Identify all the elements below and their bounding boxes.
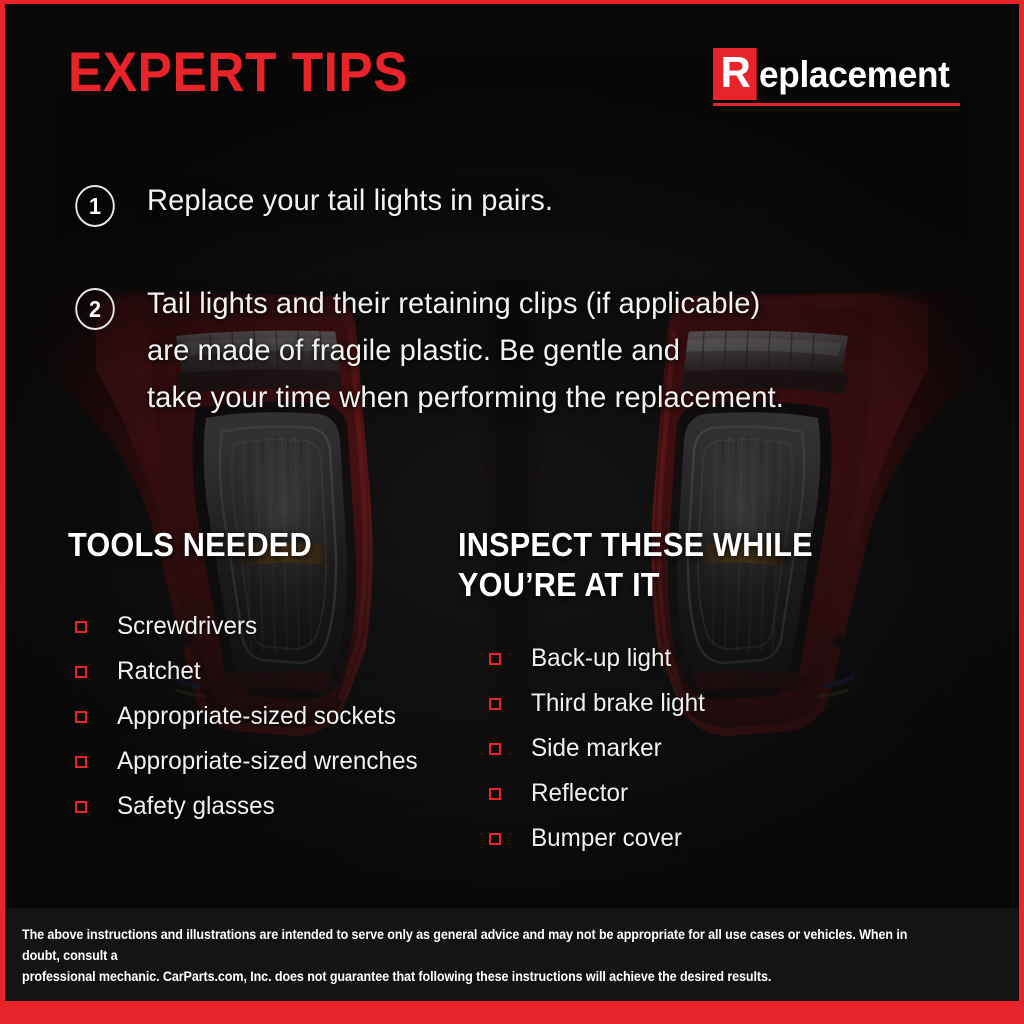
list-item-label: Third brake light	[531, 691, 705, 716]
expert-tips-infographic: EXPERT TIPS R eplacement 1 Replace your …	[0, 0, 1024, 1024]
tip-text-1: Replace your tail lights in pairs.	[147, 177, 553, 224]
list-item-label: Safety glasses	[117, 794, 275, 819]
disclaimer-footer: The above instructions and illustrations…	[0, 908, 1024, 1001]
section-heading-tools: TOOLS NEEDED	[68, 525, 431, 565]
list-item: Third brake light	[489, 681, 858, 726]
list-item: Screwdrivers	[75, 604, 458, 649]
list-item: Ratchet	[75, 649, 458, 694]
list-item-label: Ratchet	[117, 659, 201, 684]
list-item-label: Bumper cover	[531, 826, 682, 851]
checkbox-square-icon	[489, 698, 501, 710]
brand-logo: R eplacement	[713, 48, 960, 106]
checkbox-square-icon	[75, 756, 87, 768]
tools-list: Screwdrivers Ratchet Appropriate-sized s…	[75, 604, 458, 829]
heading-line: TOOLS NEEDED	[68, 526, 312, 563]
checkbox-square-icon	[489, 833, 501, 845]
tip-item-2: 2 Tail lights and their retaining clips …	[74, 288, 804, 421]
list-item: Back-up light	[489, 636, 858, 681]
checkbox-square-icon	[75, 711, 87, 723]
tip-line: are made of fragile plastic. Be gentle a…	[147, 327, 784, 374]
tip-line: take your time when performing the repla…	[147, 374, 784, 421]
tip-number-badge-1: 1	[75, 185, 114, 227]
tip-line: Replace your tail lights in pairs.	[147, 177, 553, 224]
list-item: Appropriate-sized wrenches	[75, 739, 458, 784]
list-item: Bumper cover	[489, 816, 858, 861]
checkbox-square-icon	[489, 788, 501, 800]
tip-number-badge-2: 2	[75, 288, 114, 330]
list-item: Safety glasses	[75, 784, 458, 829]
list-item-label: Side marker	[531, 736, 662, 761]
border-left	[0, 0, 5, 1024]
checkbox-square-icon	[75, 621, 87, 633]
tip-text-2: Tail lights and their retaining clips (i…	[147, 280, 784, 421]
disclaimer-line-2: professional mechanic. CarParts.com, Inc…	[22, 966, 933, 987]
checkbox-square-icon	[489, 743, 501, 755]
list-item-label: Reflector	[531, 781, 628, 806]
border-right	[1019, 0, 1024, 1024]
list-item: Appropriate-sized sockets	[75, 694, 458, 739]
tip-item-1: 1 Replace your tail lights in pairs.	[74, 185, 566, 227]
list-item-label: Back-up light	[531, 646, 671, 671]
tip-line: Tail lights and their retaining clips (i…	[147, 280, 784, 327]
heading-line: YOU’RE AT IT	[458, 566, 660, 603]
list-item: Reflector	[489, 771, 858, 816]
disclaimer-line-1: The above instructions and illustrations…	[22, 924, 933, 966]
section-inspect-these: INSPECT THESE WHILE YOU’RE AT IT Back-up…	[458, 525, 858, 861]
inspect-list: Back-up light Third brake light Side mar…	[489, 636, 858, 861]
list-item-label: Appropriate-sized wrenches	[117, 749, 418, 774]
list-item-label: Screwdrivers	[117, 614, 257, 639]
checkbox-square-icon	[489, 653, 501, 665]
checkbox-square-icon	[75, 666, 87, 678]
heading-line: INSPECT THESE WHILE	[458, 526, 813, 563]
logo-underline	[713, 103, 960, 106]
list-item-label: Appropriate-sized sockets	[117, 704, 396, 729]
section-heading-inspect: INSPECT THESE WHILE YOU’RE AT IT	[458, 525, 830, 605]
border-top	[0, 0, 1024, 4]
list-item: Side marker	[489, 726, 858, 771]
section-tools-needed: TOOLS NEEDED Screwdrivers Ratchet Approp…	[68, 525, 458, 829]
checkbox-square-icon	[75, 801, 87, 813]
logo-word: eplacement	[759, 56, 950, 93]
logo-initial: R	[713, 48, 756, 100]
border-bottom	[0, 1001, 1024, 1024]
page-title: EXPERT TIPS	[68, 44, 408, 100]
